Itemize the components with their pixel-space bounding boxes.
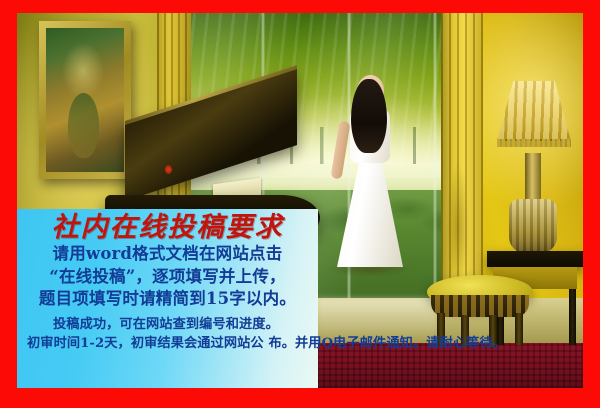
- window-mullion: [433, 13, 437, 298]
- instruction-line-3: 题目项填写时请精简到15字以内。: [27, 288, 308, 309]
- panel-title: 社内在线投稿要求: [27, 213, 308, 242]
- framed-picture-highlight: [62, 42, 105, 100]
- figure-hair: [351, 79, 387, 153]
- announcement-panel: 社内在线投稿要求 请用word格式文档在网站点击 “在线投稿”，逐项填写并上传，…: [17, 209, 318, 388]
- framed-picture: [39, 21, 131, 179]
- note-line-2: 初审时间1-2天，初审结果会通过网站公: [27, 336, 264, 351]
- console-table-leg: [569, 289, 576, 345]
- lamp-base: [509, 199, 557, 253]
- instruction-line-1: 请用word格式文档在网站点击: [27, 243, 308, 264]
- note-line-3: 布。并用Q电子邮件通知。请耐心等待。: [268, 336, 505, 351]
- note-line-1: 投稿成功，可在网站查到编号和进度。: [27, 316, 308, 334]
- lamp-fringe: [497, 139, 571, 147]
- framed-picture-canvas: [46, 28, 124, 172]
- framed-picture-shape: [68, 93, 99, 158]
- piano-rose: [165, 165, 172, 174]
- panel-note: 投稿成功，可在网站查到编号和进度。 初审时间1-2天，初审结果会通过网站公 布。…: [27, 316, 308, 353]
- instruction-line-2: “在线投稿”，逐项填写并上传，: [27, 266, 308, 287]
- poster-frame: 社内在线投稿要求 请用word格式文档在网站点击 “在线投稿”，逐项填写并上传，…: [0, 0, 600, 408]
- console-table-top: [487, 251, 583, 267]
- lamp-stem: [525, 153, 541, 205]
- stool-leg: [515, 313, 523, 345]
